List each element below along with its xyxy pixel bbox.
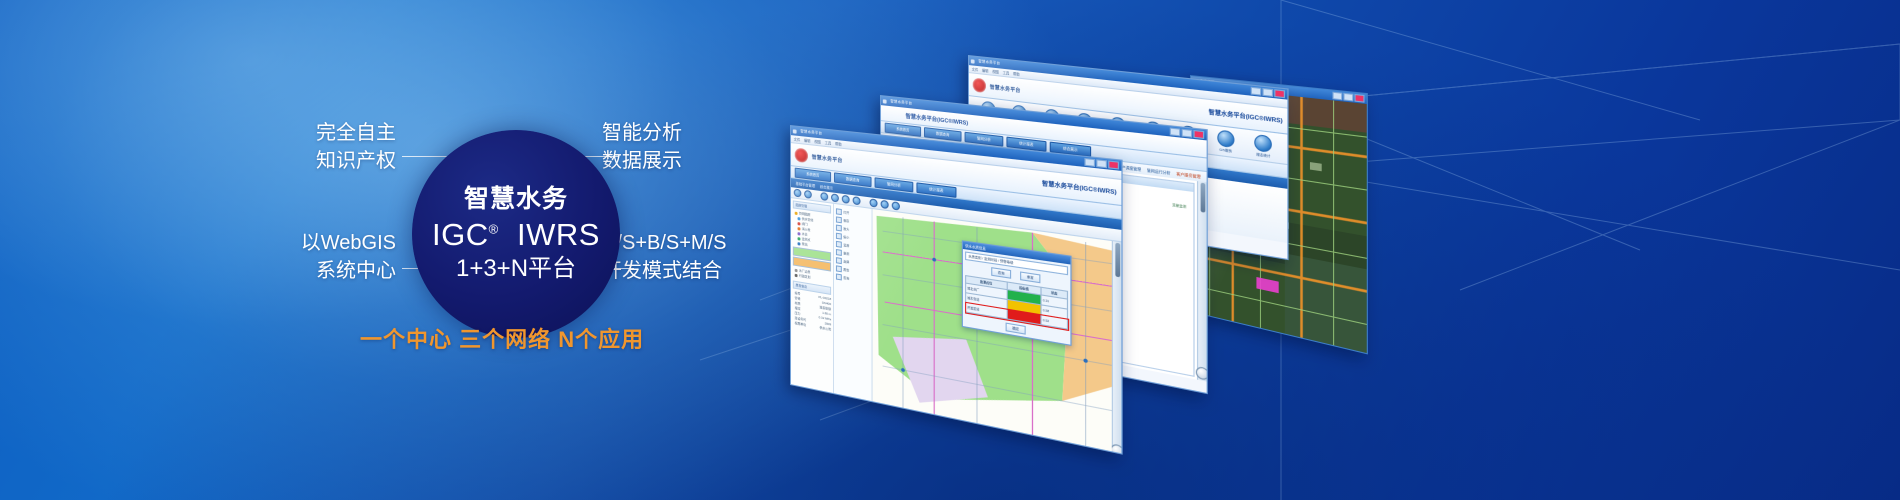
badge-en-igc: IGC [432, 217, 489, 252]
chart-legend: 流量监测 [1172, 203, 1186, 209]
toolbar-label: 报表统计 [1256, 152, 1270, 158]
sublink-customer[interactable]: 客户服务管理 [1176, 171, 1200, 180]
pan-icon [836, 241, 842, 248]
water-drop-logo-icon [795, 148, 808, 164]
tagline: 一个中心 三个网络 N个应用 [360, 322, 644, 354]
back-window-header-title: 智慧水务平台(IGC®IWRS) [1209, 108, 1283, 125]
minimize-icon[interactable] [1332, 92, 1342, 101]
feature-bottom-left-line2: 系统中心 [250, 258, 396, 286]
sublink-network[interactable]: 管网运行分析 [1147, 167, 1171, 175]
maximize-icon[interactable] [1262, 88, 1273, 97]
maximize-icon[interactable] [1096, 159, 1107, 168]
zoom-out-icon [836, 233, 842, 240]
menu-item-tools[interactable]: 工具 [825, 140, 832, 146]
dialog-ok-button[interactable]: 确定 [1006, 323, 1026, 335]
nav-pad-icon[interactable] [1196, 366, 1208, 381]
sublink-platform[interactable]: 基础平台管理 [796, 181, 815, 189]
select-icon [836, 257, 842, 264]
dialog-search-button[interactable]: 查询 [991, 267, 1011, 279]
toolbar-item-gis[interactable]: GIS服务 [1217, 129, 1234, 153]
nav-pad-icon[interactable] [1111, 443, 1123, 455]
registered-mark-icon: ® [489, 222, 499, 237]
toolbar-label: GIS服务 [1219, 147, 1232, 153]
report-icon [1254, 134, 1272, 153]
menu-item-file[interactable]: 文件 [794, 136, 800, 142]
scrollbar-thumb[interactable] [1200, 183, 1205, 213]
close-icon[interactable] [1193, 130, 1204, 139]
pan-icon[interactable] [842, 195, 850, 204]
measure-icon[interactable] [853, 196, 861, 205]
maximize-icon[interactable] [1343, 93, 1353, 102]
close-icon[interactable] [1274, 89, 1285, 98]
back-window-brand: 智慧水务平台 [990, 83, 1021, 94]
front-window[interactable]: 智慧水务平台 文件 编辑 视图 工具 帮助 智慧水务平台 智慧水务平台(IGC®… [790, 125, 1123, 455]
front-window-header-title: 智慧水务平台(IGC®IWRS) [1042, 179, 1117, 197]
search-icon [836, 273, 842, 280]
feature-bottom-left: 以WebGIS 系统中心 [250, 230, 396, 285]
layer-icon [795, 268, 798, 271]
badge-en-iwrs: IWRS [517, 217, 600, 252]
feature-top-right-line1: 智能分析 [602, 120, 682, 148]
measure-icon [836, 249, 842, 256]
status-coords: X: 118.236 Y: 34.512 [817, 397, 844, 407]
layer-icon [795, 211, 798, 214]
hero-banner: 完全自主 知识产权 智能分析 数据展示 以WebGIS 系统中心 C/S+B/S… [0, 0, 1900, 500]
layer-icon [798, 227, 801, 230]
gis-map-canvas[interactable]: 供水管网 分区图 供水水质信息 水质类别 / 监测时段 / 预警等级 [873, 209, 1112, 455]
window-stack: 影像底图 [790, 55, 1350, 355]
feature-bottom-right-line2: 开发模式结合 [602, 258, 727, 286]
menu-item-help[interactable]: 帮助 [1013, 71, 1020, 77]
sublink-display[interactable]: 综合展示 [820, 184, 833, 191]
water-drop-logo-icon [973, 78, 986, 94]
feature-top-left-line2: 知识产权 [250, 148, 396, 176]
close-icon[interactable] [1108, 160, 1119, 169]
map-tools-panel[interactable]: 打开 保存 放大 缩小 漫游 量测 选择 属性 查询 [834, 204, 873, 407]
menu-item-file[interactable]: 文件 [972, 66, 978, 72]
save-icon[interactable] [804, 190, 812, 199]
scrollbar-thumb[interactable] [1115, 243, 1120, 278]
badge-cn-title: 智慧水务 [464, 185, 568, 213]
badge-en-title: IGC® IWRS [432, 218, 600, 253]
front-window-scrollbar[interactable] [1112, 241, 1122, 455]
minimize-icon[interactable] [1084, 158, 1095, 167]
menu-item-edit[interactable]: 编辑 [982, 68, 988, 74]
layer-tree-panel[interactable]: 图层管理 管网图层 供水管线 阀门 消火栓 水表 监测点 泵站 水厂边界 行政区… [791, 198, 834, 398]
layer-icon [798, 237, 801, 240]
open-icon [836, 208, 842, 215]
badge-subtitle: 1+3+N平台 [456, 256, 576, 283]
layer-icon [798, 222, 801, 225]
window-icon [793, 129, 797, 133]
zoom-out-icon[interactable] [831, 193, 839, 202]
zoom-in-icon[interactable] [820, 192, 828, 201]
feature-bottom-right-line1: C/S+B/S+M/S [602, 230, 727, 258]
close-icon[interactable] [1354, 94, 1364, 103]
minimize-icon[interactable] [1170, 127, 1181, 136]
toolbar-item-report[interactable]: 报表统计 [1254, 134, 1272, 159]
menu-item-view[interactable]: 视图 [814, 139, 821, 145]
select-icon[interactable] [870, 198, 878, 207]
front-window-body: 图层管理 管网图层 供水管线 阀门 消火栓 水表 监测点 泵站 水厂边界 行政区… [791, 198, 1121, 455]
layer-icon [795, 273, 798, 276]
feature-top-right: 智能分析 数据展示 [602, 120, 682, 175]
feature-top-left-line1: 完全自主 [250, 120, 396, 148]
layer-icon [798, 242, 801, 245]
feature-bottom-right: C/S+B/S+M/S 开发模式结合 [602, 230, 727, 285]
zoom-in-icon [836, 225, 842, 232]
feature-top-right-line2: 数据展示 [602, 148, 682, 176]
menu-item-edit[interactable]: 编辑 [804, 138, 810, 144]
menu-item-tools[interactable]: 工具 [1003, 70, 1010, 76]
attribute-icon [836, 265, 842, 272]
window-icon [971, 59, 975, 63]
center-badge: 智慧水务 IGC® IWRS 1+3+N平台 [412, 130, 620, 338]
gis-icon [1217, 129, 1234, 148]
front-window-brand: 智慧水务平台 [812, 153, 843, 164]
minimize-icon[interactable] [1251, 87, 1262, 96]
menu-item-help[interactable]: 帮助 [835, 141, 842, 147]
layer-icon [798, 232, 801, 235]
mid-window-scrollbar[interactable] [1197, 181, 1207, 381]
window-icon [883, 99, 887, 103]
search-icon[interactable] [892, 201, 900, 210]
layer-icon [798, 217, 801, 220]
dialog-reset-button[interactable]: 重置 [1020, 271, 1040, 283]
menu-item-view[interactable]: 视图 [992, 69, 999, 75]
open-icon[interactable] [794, 188, 802, 197]
attribute-icon[interactable] [881, 200, 889, 209]
maximize-icon[interactable] [1182, 129, 1193, 138]
save-icon [836, 216, 842, 223]
status-scale: 比例尺 1:5000 [794, 392, 812, 400]
feature-top-left: 完全自主 知识产权 [250, 120, 396, 175]
feature-bottom-left-line1: 以WebGIS [250, 230, 396, 258]
